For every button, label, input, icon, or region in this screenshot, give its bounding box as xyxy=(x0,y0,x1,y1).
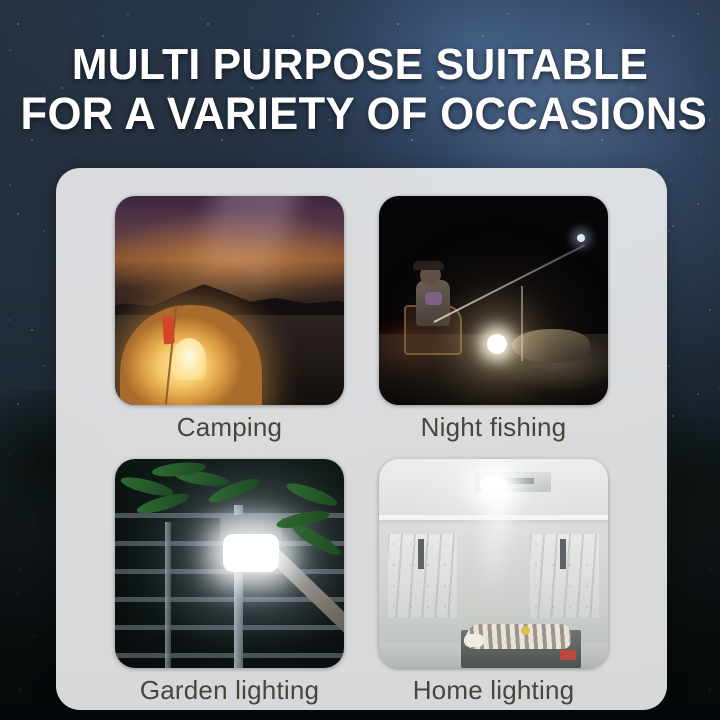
caption-home-lighting: Home lighting xyxy=(413,677,575,703)
curtain-tab xyxy=(418,539,424,569)
use-case-item-garden-lighting[interactable]: Garden lighting xyxy=(115,459,344,703)
garden-lamp-light xyxy=(223,534,279,572)
home-lighting-thumbnail[interactable] xyxy=(379,459,608,668)
home-lamp-light xyxy=(480,476,506,494)
use-case-card: Camping Night fishin xyxy=(56,168,667,710)
window-curtain-right xyxy=(530,534,599,618)
window-curtain-left xyxy=(388,534,457,618)
promo-page: MULTI PURPOSE SUITABLE FOR A VARIETY OF … xyxy=(0,0,720,720)
toy-object xyxy=(521,626,530,635)
camping-thumbnail[interactable] xyxy=(115,196,344,405)
use-case-item-camping[interactable]: Camping xyxy=(115,196,344,440)
night-fishing-thumbnail[interactable] xyxy=(379,196,608,405)
distant-star xyxy=(577,234,585,242)
angler-cap xyxy=(413,261,444,270)
camping-lamp-light xyxy=(487,334,507,354)
rod-stand xyxy=(521,286,523,361)
fishing-rod xyxy=(433,245,585,324)
railing-post-left xyxy=(165,522,171,668)
red-object xyxy=(560,650,576,660)
use-case-item-home-lighting[interactable]: Home lighting xyxy=(379,459,608,703)
caption-camping: Camping xyxy=(177,414,282,440)
use-case-item-night-fishing[interactable]: Night fishing xyxy=(379,196,608,440)
title-line-2: FOR A VARIETY OF OCCASIONS xyxy=(20,89,699,139)
tent-window-glow xyxy=(172,338,206,380)
rock-shape xyxy=(512,329,590,363)
use-case-grid: Camping Night fishin xyxy=(56,168,667,710)
tent-flag-icon xyxy=(162,316,175,345)
page-title: MULTI PURPOSE SUITABLE FOR A VARIETY OF … xyxy=(11,40,709,140)
caption-night-fishing: Night fishing xyxy=(421,414,567,440)
caption-garden-lighting: Garden lighting xyxy=(140,677,319,703)
curtain-tab xyxy=(560,539,566,569)
garden-lighting-thumbnail[interactable] xyxy=(115,459,344,668)
pillow xyxy=(464,634,484,647)
angler-scarf xyxy=(425,292,442,305)
leaf-shape xyxy=(285,479,340,510)
camping-milkyway xyxy=(192,196,308,300)
title-line-1: MULTI PURPOSE SUITABLE xyxy=(20,40,699,89)
